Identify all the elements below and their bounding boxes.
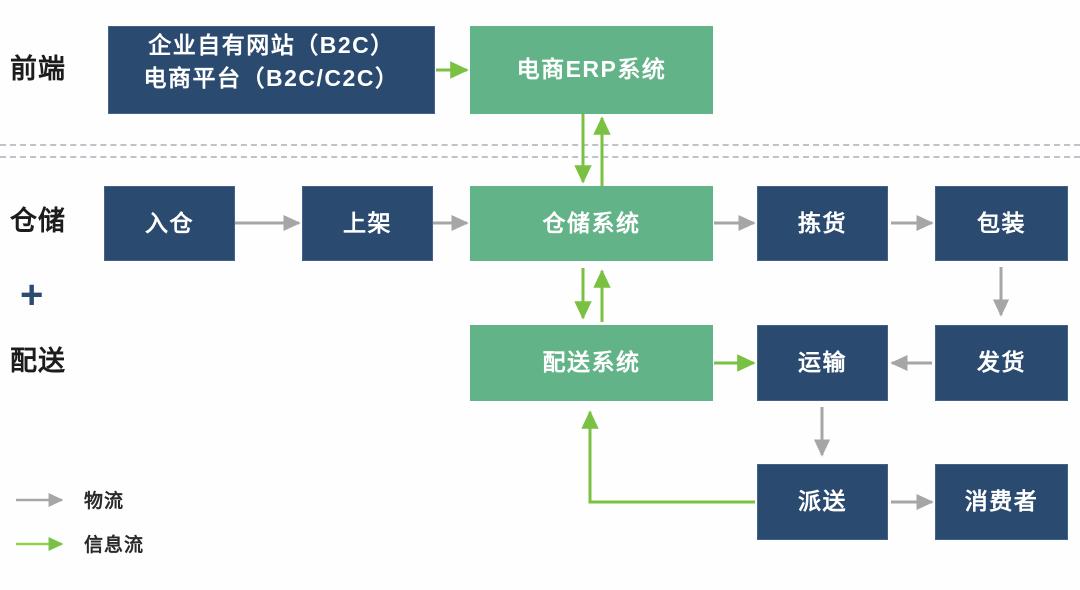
legend-label-information: 信息流 [84, 530, 144, 557]
node-dms[interactable]: 配送系统 [470, 325, 713, 401]
diagram-canvas: 前端 仓储 + 配送 [0, 0, 1080, 590]
node-picking[interactable]: 拣货 [757, 186, 888, 261]
node-transport[interactable]: 运输 [757, 325, 888, 401]
rail-label-warehouse: 仓储 [10, 208, 66, 235]
node-shelving[interactable]: 上架 [302, 186, 433, 261]
legend-label-logistics: 物流 [84, 486, 124, 513]
arrow-right-icon [14, 493, 70, 507]
rail-label-plus: + [20, 275, 43, 315]
legend-item-logistics: 物流 [14, 486, 124, 513]
node-inbound[interactable]: 入仓 [104, 186, 235, 261]
node-channels-line2: 电商平台（B2C/C2C） [115, 62, 428, 95]
node-packing[interactable]: 包装 [935, 186, 1068, 261]
node-shipping[interactable]: 发货 [935, 325, 1068, 401]
node-erp[interactable]: 电商ERP系统 [470, 26, 713, 114]
node-wms[interactable]: 仓储系统 [470, 186, 713, 261]
wire-lastmile-to-dms [590, 412, 755, 502]
legend-item-information: 信息流 [14, 530, 144, 557]
node-consumer[interactable]: 消费者 [935, 464, 1068, 540]
rail-label-frontend: 前端 [10, 56, 66, 83]
section-divider-upper [0, 144, 1080, 146]
arrow-right-icon [14, 537, 70, 551]
node-channels[interactable]: 企业自有网站（B2C） 电商平台（B2C/C2C） [108, 26, 435, 114]
section-divider-lower [0, 156, 1080, 158]
node-lastmile[interactable]: 派送 [757, 464, 888, 540]
node-channels-line1: 企业自有网站（B2C） [115, 29, 428, 62]
rail-label-delivery: 配送 [10, 348, 66, 375]
